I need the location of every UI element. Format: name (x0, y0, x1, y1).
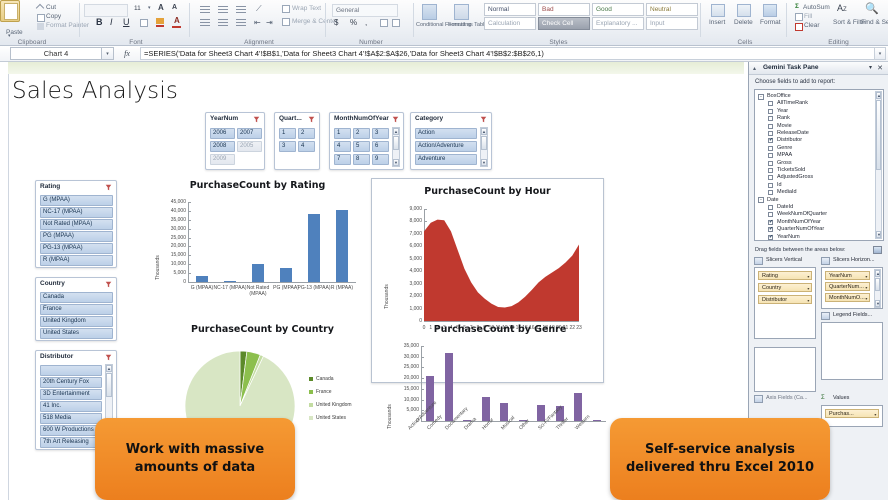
slicer-item[interactable]: 600 W Productions (40, 425, 102, 436)
bold-button[interactable]: B (96, 17, 103, 27)
align-left-icon[interactable] (200, 19, 210, 26)
italic-button[interactable]: I (110, 17, 113, 27)
slicer-scrollbar[interactable]: ▲ ▼ (392, 127, 400, 167)
fill-icon[interactable] (795, 13, 803, 21)
slicer-item[interactable]: 8 (353, 154, 370, 165)
slicers-horizontal-icon (821, 257, 830, 265)
field-checkbox[interactable] (768, 146, 773, 151)
y-tick-label: 5,000 (389, 407, 419, 413)
conditional-formatting-icon[interactable] (422, 4, 437, 20)
slicer-title-quarter: Quart... (279, 115, 302, 122)
slicer-item[interactable]: France (40, 304, 113, 315)
slicer-item[interactable]: 5 (353, 141, 370, 152)
group-label-font: Font (82, 39, 190, 46)
task-pane-title: Gemini Task Pane (763, 64, 819, 71)
slicer-item[interactable]: Not Rated (MPAA) (40, 219, 113, 230)
y-tick-label: 0 (154, 279, 186, 285)
cut-label[interactable]: Cut (46, 4, 56, 11)
group-label-number: Number (328, 39, 414, 46)
y-tick-label: 6,000 (392, 243, 422, 249)
field-list[interactable]: -BoxOfficeAllTimeRankYearRankMovieReleas… (754, 89, 884, 241)
legend-swatch (309, 403, 313, 407)
field-label[interactable]: WeekNumOfQuarter (777, 211, 827, 217)
y-tick-label: 2,000 (392, 293, 422, 299)
area-label-slicers-vertical: Slicers Vertical (766, 257, 802, 263)
slicer-rating[interactable]: Rating G (MPAA) NC-17 (MPAA) Not Rated (… (35, 180, 117, 268)
field-label[interactable]: ReleaseDate (777, 130, 809, 136)
field-checkbox[interactable] (768, 212, 773, 217)
fill-color-icon[interactable] (156, 18, 164, 24)
slicer-item[interactable]: PG (MPAA) (40, 231, 113, 242)
currency-icon[interactable]: $ (334, 18, 338, 27)
group-label-clipboard: Clipboard (0, 39, 72, 46)
slicer-item[interactable]: Canada (40, 292, 113, 303)
x-axis (424, 321, 579, 322)
slicer-item[interactable]: 20th Century Fox (40, 377, 102, 388)
slicer-scrollbar[interactable]: ▲ ▼ (480, 127, 488, 167)
area-series[interactable] (424, 209, 579, 321)
title-band (8, 62, 744, 74)
field-pill[interactable]: MonthNumO...▾ (825, 293, 870, 302)
slicer-item[interactable]: 1 (279, 128, 296, 139)
slicer-category[interactable]: Category Action Action/Adventure Adventu… (410, 112, 492, 170)
area-label-slicers-horizontal: Slicers Horizon... (833, 257, 875, 263)
y-tick-label: 30,000 (154, 226, 186, 232)
wrap-text-label[interactable]: Wrap Text (292, 5, 321, 12)
legend-label: United States (316, 415, 346, 421)
slicer-title-category: Category (415, 115, 443, 122)
y-tick-label: 40,000 (154, 208, 186, 214)
cell-style-good[interactable]: Good (592, 3, 644, 16)
page-title: Sales Analysis (12, 78, 178, 104)
values-area[interactable]: Purchas...▾ (821, 405, 883, 427)
legend-label: France (316, 389, 332, 395)
slicer-title-distributor: Distributor (40, 353, 73, 360)
chart-title: PurchaseCount by Rating (150, 180, 365, 191)
ribbon-group-styles: Conditional Formatting Format as Table N… (416, 0, 701, 46)
ribbon-group-cells: Insert Delete Format Cells (703, 0, 787, 46)
area-label-legend-fields: Legend Fields... (833, 312, 872, 318)
group-label-editing: Editing (789, 39, 888, 46)
slicer-item[interactable]: 1 (334, 128, 351, 139)
field-label[interactable]: QuarterNumOfYear (777, 226, 824, 232)
cell-style-check-cell[interactable]: Check Cell (538, 17, 590, 30)
orientation-icon[interactable]: ⟋ (256, 4, 262, 14)
percent-icon[interactable]: % (350, 18, 357, 27)
increase-indent-icon[interactable]: ⇥ (266, 18, 273, 27)
field-label[interactable]: MPAA (777, 152, 792, 158)
callout-massive-data: Work with massive amounts of data (95, 418, 295, 500)
callout-line-2: amounts of data (135, 460, 255, 475)
field-list-scrollbar[interactable]: ▲ ▼ (875, 91, 882, 239)
conditional-formatting-label[interactable]: Conditional Formatting (416, 22, 446, 28)
shrink-font-icon[interactable]: A (172, 4, 177, 11)
slicer-item[interactable]: 6 (372, 141, 389, 152)
slicer-quarter[interactable]: Quart... 1 2 3 4 (274, 112, 320, 170)
slicer-title-country: Country (40, 280, 65, 287)
expand-collapse-icon[interactable]: - (758, 197, 764, 203)
slicer-item[interactable]: 41 Inc. (40, 401, 102, 412)
slicer-item[interactable]: Adventure (415, 154, 477, 165)
format-as-table-label[interactable]: Format as Table (448, 22, 478, 28)
field-label[interactable]: Movie (777, 123, 792, 129)
format-label[interactable]: Format (760, 19, 781, 26)
y-tick-label: 25,000 (154, 235, 186, 241)
y-tick-label: 10,000 (389, 397, 419, 403)
bar[interactable] (593, 420, 601, 421)
field-checkbox[interactable] (768, 138, 773, 143)
y-tick-label: 20,000 (389, 375, 419, 381)
x-axis (188, 282, 356, 283)
slicer-item[interactable]: Action/Adventure (415, 141, 477, 152)
name-box-dropdown-icon[interactable]: ▾ (102, 47, 114, 60)
field-pill[interactable]: Purchas...▾ (825, 409, 879, 418)
slicer-item[interactable]: 2006 (210, 128, 235, 139)
autosum-icon[interactable]: Σ (795, 3, 799, 10)
font-size-value[interactable]: 11 (134, 5, 141, 12)
field-table-label[interactable]: Date (767, 197, 779, 203)
field-label[interactable]: Distributor (777, 137, 802, 143)
ribbon-group-editing: Σ AutoSum Fill Clear AZ Sort & Filter 🔍 … (789, 0, 888, 46)
field-pill[interactable]: Distributor▾ (758, 295, 812, 304)
borders-icon[interactable] (140, 19, 148, 27)
sort-filter-icon[interactable]: AZ (837, 3, 847, 13)
y-tick-label: 25,000 (389, 364, 419, 370)
y-tick-label: 15,000 (389, 386, 419, 392)
y-tick-label: 35,000 (154, 217, 186, 223)
y-tick-label: 10,000 (154, 261, 186, 267)
x-tick-label: R (MPAA) (324, 285, 360, 291)
field-checkbox[interactable] (768, 131, 773, 136)
slicer-item[interactable]: 2009 (210, 154, 235, 165)
slicer-item[interactable]: 4 (298, 141, 315, 152)
slicer-item[interactable]: G (MPAA) (40, 195, 113, 206)
ribbon-group-font: 11 ▾ A A B I U A Font (82, 0, 190, 46)
format-cells-icon[interactable] (763, 4, 777, 17)
bar[interactable] (280, 268, 292, 282)
slicer-country[interactable]: Country Canada France United Kingdom Uni… (35, 277, 117, 341)
field-checkbox[interactable] (768, 220, 773, 225)
fill-label[interactable]: Fill (804, 13, 812, 20)
field-label[interactable]: MediaId (777, 189, 797, 195)
expand-formula-bar-icon[interactable]: ▾ (874, 47, 886, 60)
field-checkbox[interactable] (768, 153, 773, 158)
clear-filter-icon[interactable] (105, 184, 112, 191)
legend-swatch (309, 390, 313, 394)
align-center-icon[interactable] (218, 19, 228, 26)
y-tick-label: 3,000 (392, 281, 422, 287)
group-label-cells: Cells (703, 39, 787, 46)
field-checkbox[interactable] (768, 183, 773, 188)
slicer-item[interactable]: NC-17 (MPAA) (40, 207, 113, 218)
y-tick-label: 30,000 (389, 354, 419, 360)
y-tick-label: 15,000 (154, 252, 186, 258)
values-icon: Σ (821, 395, 825, 401)
slicer-title-yearnum: YearNum (210, 115, 238, 122)
field-pill[interactable]: Country▾ (758, 283, 812, 292)
slicer-item[interactable]: 4 (334, 141, 351, 152)
field-checkbox[interactable] (768, 161, 773, 166)
field-checkbox[interactable] (768, 190, 773, 195)
slicers-vertical-area[interactable]: Rating▾ Country▾ Distributor▾ (754, 267, 816, 339)
cell-style-explanatory[interactable]: Explanatory ... (592, 17, 644, 30)
slicer-item[interactable]: 2 (298, 128, 315, 139)
bar[interactable] (252, 264, 264, 282)
callout-line-1: Self-service analysis (645, 442, 795, 457)
axis-fields-icon (754, 395, 763, 403)
field-label[interactable]: Rank (777, 115, 790, 121)
field-checkbox[interactable] (768, 205, 773, 210)
y-tick-label: 5,000 (154, 270, 186, 276)
ribbon-group-alignment: ⟋ Wrap Text ⇤ ⇥ Merge & Center Alignment (192, 0, 326, 46)
field-label[interactable]: Genre (777, 145, 792, 151)
comma-icon[interactable]: , (365, 18, 367, 27)
field-label[interactable]: Gross (777, 160, 792, 166)
decrease-decimal-icon[interactable] (392, 19, 400, 27)
underline-button[interactable]: U (123, 17, 130, 27)
field-table-label[interactable]: BoxOffice (767, 93, 791, 99)
field-checkbox[interactable] (768, 175, 773, 180)
field-checkbox[interactable] (768, 168, 773, 173)
slicers-horizontal-area[interactable]: YearNum▾ QuarterNum...▾ MonthNumO...▾ ▲ … (821, 267, 883, 309)
bar[interactable] (224, 281, 236, 282)
y-tick-label: 5,000 (392, 256, 422, 262)
field-checkbox[interactable] (768, 109, 773, 114)
sort-filter-label[interactable]: Sort & Filter (833, 20, 859, 26)
y-tick-label: 4,000 (392, 268, 422, 274)
clear-filter-icon[interactable] (392, 116, 399, 123)
clear-filter-icon[interactable] (308, 116, 315, 123)
field-checkbox[interactable] (768, 124, 773, 129)
find-select-label[interactable]: Find & Select (861, 20, 887, 26)
legend-label: United Kingdom (316, 402, 352, 408)
field-label[interactable]: TicketsSold (777, 167, 805, 173)
ribbon: Paste ▾ Cut Copy Format Painter Clipboar… (0, 0, 888, 46)
slicer-item[interactable]: United States (40, 328, 113, 339)
chart-title: PurchaseCount by Genre (385, 324, 615, 335)
clear-icon[interactable] (795, 23, 803, 31)
chart-purchasecount-by-rating[interactable]: PurchaseCount by Rating Thousands 45,000… (150, 180, 365, 305)
format-as-table-icon[interactable] (454, 4, 469, 20)
cell-style-normal[interactable]: Normal (484, 3, 536, 16)
cell-style-input[interactable]: Input (646, 17, 698, 30)
slicer-yearnum[interactable]: YearNum 2006 2007 2008 2005 2009 (205, 112, 265, 170)
copy-icon[interactable] (37, 14, 45, 22)
y-tick-label: 1,000 (392, 306, 422, 312)
slicer-title-monthnum: MonthNumOfYear (334, 115, 389, 122)
slicer-item[interactable]: R (MPAA) (40, 255, 113, 266)
y-tick-label: 8,000 (392, 218, 422, 224)
group-label-styles: Styles (416, 39, 701, 46)
field-label[interactable]: Year (777, 108, 788, 114)
chart-title: PurchaseCount by Country (155, 324, 370, 335)
slicer-monthnumofyear[interactable]: MonthNumOfYear 1 2 3 4 5 6 7 8 9 ▲ ▼ (329, 112, 404, 170)
ribbon-group-clipboard: Paste ▾ Cut Copy Format Painter Clipboar… (0, 0, 80, 46)
copy-label[interactable]: Copy (46, 13, 61, 20)
callout-line-1: Work with massive (126, 442, 264, 457)
format-painter-icon[interactable] (37, 23, 44, 30)
task-pane-menu-icon[interactable]: ▾ (869, 64, 872, 71)
field-label[interactable]: MonthNumOfYear (777, 219, 821, 225)
slicers-horizontal-scrollbar[interactable]: ▲ ▼ (874, 269, 881, 308)
field-checkbox[interactable] (768, 101, 773, 106)
slicer-title-rating: Rating (40, 183, 60, 190)
callout-self-service: Self-service analysis delivered thru Exc… (610, 418, 830, 500)
field-label[interactable]: AllTimeRank (777, 100, 808, 106)
y-tick-label: 9,000 (392, 206, 422, 212)
font-color-icon[interactable]: A (174, 16, 180, 25)
clear-filter-icon[interactable] (105, 281, 112, 288)
chart-y-axis-title: Thousands (155, 255, 161, 280)
align-middle-icon[interactable] (218, 6, 228, 13)
paste-icon[interactable] (0, 0, 20, 22)
align-bottom-icon[interactable] (236, 6, 246, 13)
task-pane-subtitle: Choose fields to add to report: (755, 79, 835, 85)
increase-decimal-icon[interactable] (380, 19, 388, 27)
area-label-axis-fields: Axis Fields (Ca... (766, 395, 808, 401)
cell-style-calculation[interactable]: Calculation (484, 17, 536, 30)
decrease-indent-icon[interactable]: ⇤ (254, 18, 261, 27)
slicer-item[interactable]: 3 (279, 141, 296, 152)
slicer-item[interactable]: 2008 (210, 141, 235, 152)
field-label[interactable]: Id (777, 182, 782, 188)
bar[interactable] (308, 214, 320, 282)
field-checkbox[interactable] (768, 235, 773, 240)
cell-style-bad[interactable]: Bad (538, 3, 590, 16)
slicer-item[interactable]: 2007 (237, 128, 262, 139)
slicer-item[interactable]: PG-13 (MPAA) (40, 243, 113, 254)
number-format-value[interactable]: General (332, 4, 398, 17)
insert-function-icon[interactable]: fx (114, 49, 140, 58)
task-pane-handle-icon[interactable]: ▴ (753, 65, 756, 72)
align-top-icon[interactable] (200, 6, 210, 13)
slicer-item[interactable]: 3 (372, 128, 389, 139)
clear-label[interactable]: Clear (804, 22, 820, 29)
slicer-item[interactable]: United Kingdom (40, 316, 113, 327)
y-axis (421, 346, 422, 421)
clear-filter-icon[interactable] (253, 116, 260, 123)
cell-style-neutral[interactable]: Neutral (646, 3, 698, 16)
chart-purchasecount-by-genre[interactable]: PurchaseCount by Genre Thousands 35,0003… (385, 324, 615, 464)
delete-cells-icon[interactable] (737, 4, 751, 17)
field-pill[interactable]: Rating▾ (758, 271, 812, 280)
layout-toggle-icon[interactable] (873, 246, 882, 254)
field-checkbox[interactable] (768, 116, 773, 121)
slicer-item[interactable]: 3D Entertainment (40, 389, 102, 400)
y-tick-label: 20,000 (154, 243, 186, 249)
field-label[interactable]: DateId (777, 204, 793, 210)
legend-label: Canada (316, 376, 334, 382)
insert-cells-icon[interactable] (711, 4, 725, 17)
legend-swatch (309, 416, 313, 420)
merge-center-icon[interactable] (282, 18, 290, 26)
field-pill[interactable]: QuarterNum...▾ (825, 282, 870, 291)
y-axis (188, 202, 189, 282)
legend-fields-area[interactable] (821, 322, 883, 380)
y-tick-label: 35,000 (389, 343, 419, 349)
bar[interactable] (336, 210, 348, 282)
formula-bar: Chart 4 ▾ fx =SERIES('Data for Sheet3 Ch… (0, 46, 888, 62)
drag-fields-hint: Drag fields between the areas below: (755, 247, 846, 253)
slicer-item[interactable]: 518 Media (40, 413, 102, 424)
slicer-item[interactable]: 7 (334, 154, 351, 165)
callout-line-2: delivered thru Excel 2010 (626, 460, 814, 475)
grow-font-icon[interactable]: A (158, 3, 164, 12)
formula-input[interactable]: =SERIES('Data for Sheet3 Chart 4'!$B$1,'… (140, 47, 874, 60)
area-label-values: Values (833, 395, 849, 401)
bar[interactable] (196, 276, 208, 282)
slicer-item[interactable]: 7th Art Releasing (40, 437, 102, 448)
expand-collapse-icon[interactable]: - (758, 94, 764, 100)
insert-label[interactable]: Insert (709, 19, 725, 26)
field-pill[interactable]: YearNum▾ (825, 271, 870, 280)
chart-title: PurchaseCount by Hour (372, 186, 603, 197)
chart-y-axis-title: Thousands (384, 284, 390, 309)
slicer-item[interactable]: 9 (372, 154, 389, 165)
axis-fields-area[interactable] (754, 347, 816, 392)
clear-filter-icon[interactable] (105, 354, 112, 361)
clear-filter-icon[interactable] (480, 116, 487, 123)
field-checkbox[interactable] (768, 227, 773, 232)
close-icon[interactable]: ✕ (877, 64, 883, 72)
y-tick-label: 45,000 (154, 199, 186, 205)
cut-icon[interactable] (36, 4, 44, 12)
slicer-item[interactable]: Action (415, 128, 477, 139)
slicer-item[interactable]: 2 (353, 128, 370, 139)
slicer-item[interactable]: 2005 (237, 141, 262, 152)
delete-label[interactable]: Delete (734, 19, 753, 26)
autosum-label[interactable]: AutoSum (803, 4, 830, 11)
find-select-icon[interactable]: 🔍 (865, 2, 879, 15)
align-right-icon[interactable] (236, 19, 246, 26)
y-tick-label: 7,000 (392, 231, 422, 237)
slicers-vertical-icon (754, 257, 763, 265)
field-label[interactable]: AdjustedGross (777, 174, 813, 180)
name-box[interactable]: Chart 4 (10, 47, 102, 60)
legend-fields-icon (821, 312, 830, 320)
field-label[interactable]: YearNum (777, 234, 800, 240)
slicer-item[interactable] (40, 365, 102, 376)
group-label-alignment: Alignment (192, 39, 326, 46)
wrap-text-icon[interactable] (282, 5, 290, 13)
ribbon-group-number: General $ % , Number (328, 0, 414, 46)
legend-swatch (309, 377, 313, 381)
x-tick-label: Other (518, 396, 553, 431)
